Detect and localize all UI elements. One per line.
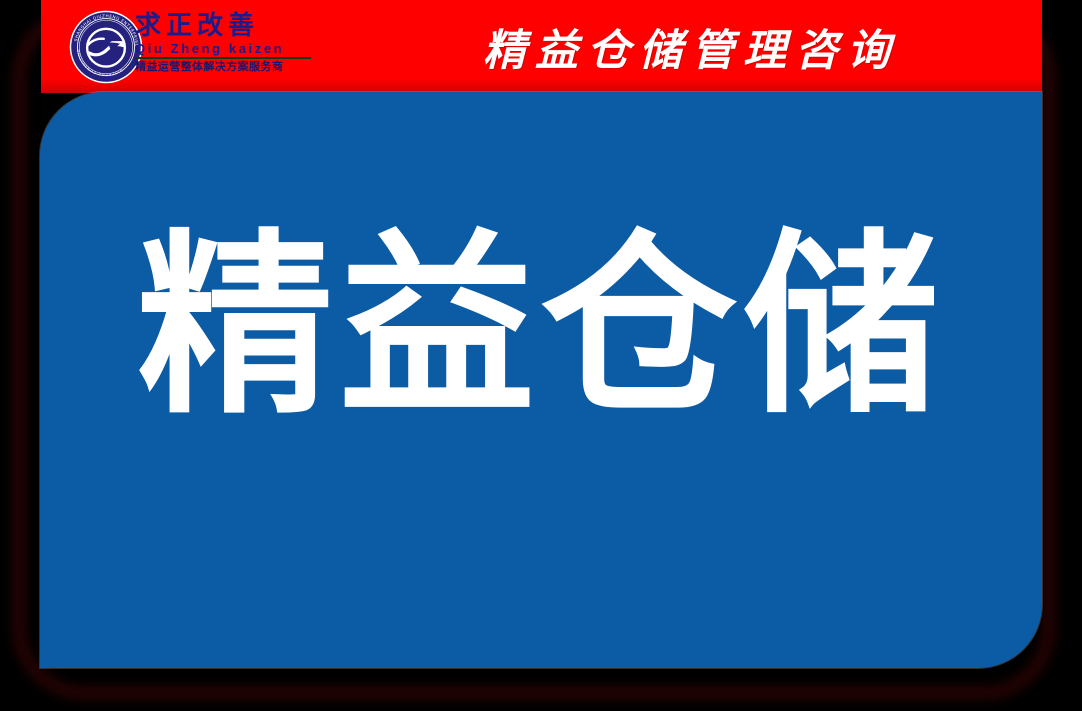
brand-name-cn: 求正改善 (135, 12, 317, 40)
slide-main-title: 精益仓储 (40, 220, 1042, 434)
slide-canvas: SHANGHAI QIUZHENG ENTERPRISE MANAGEMENT … (0, 0, 1082, 711)
slide-body-panel: 精益仓储 (40, 92, 1042, 668)
logo-wordmark: 求正改善 Qiu Zheng kaizen 精益运营整体解决方案服务商 (135, 12, 317, 74)
header-title: 精益仓储管理咨询 (341, 0, 1041, 93)
qiuzheng-circular-emblem-icon: SHANGHAI QIUZHENG ENTERPRISE MANAGEMENT … (69, 10, 143, 84)
brand-tagline: 精益运营整体解决方案服务商 (135, 60, 317, 74)
header-title-text: 精益仓储管理咨询 (483, 16, 899, 78)
slide-main-title-text: 精益仓储 (137, 213, 945, 441)
brand-divider-rule (135, 57, 311, 59)
company-logo: SHANGHAI QIUZHENG ENTERPRISE MANAGEMENT … (69, 6, 317, 86)
header-bar: SHANGHAI QIUZHENG ENTERPRISE MANAGEMENT … (41, 0, 1042, 93)
brand-name-pinyin: Qiu Zheng kaizen (135, 41, 317, 56)
